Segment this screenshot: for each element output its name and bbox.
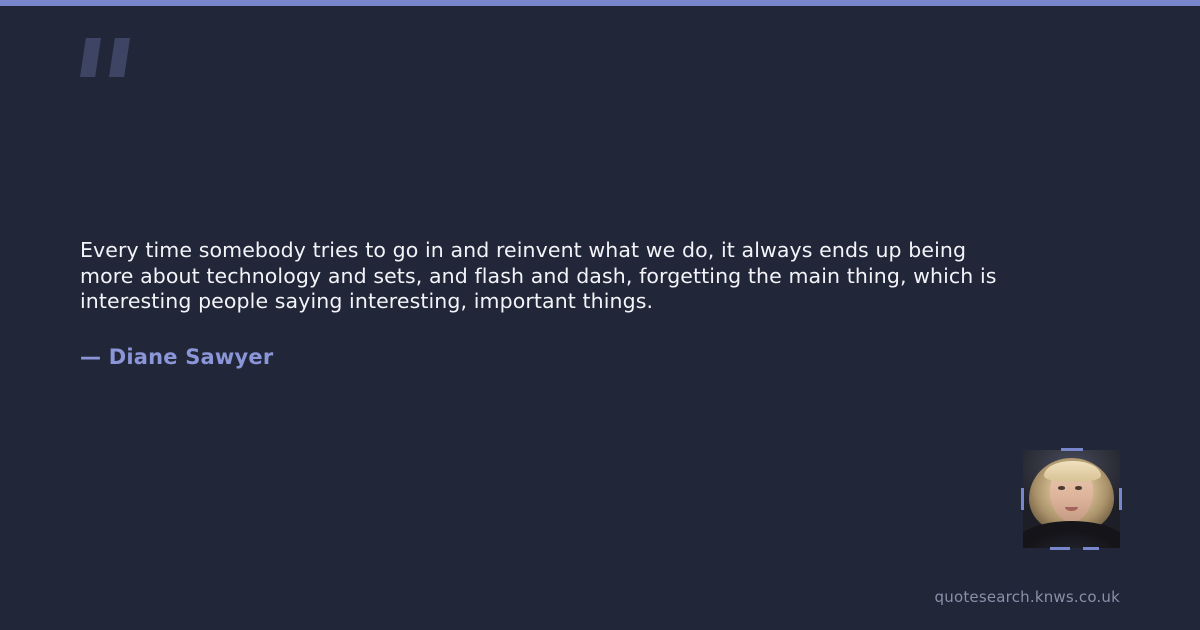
portrait-handle-top[interactable] [1061,448,1083,451]
quote-author: — Diane Sawyer [80,315,1000,369]
author-portrait-image [1023,450,1120,548]
open-quote-wedge-left [80,38,101,77]
quote-text: Every time somebody tries to go in and r… [80,238,1000,315]
open-quote-icon [80,38,132,78]
quote-body: Every time somebody tries to go in and r… [80,238,1000,369]
portrait-eye-right [1075,486,1082,489]
portrait-handle-bottom-left[interactable] [1050,547,1070,550]
portrait-eye-left [1058,486,1065,489]
portrait-fringe [1044,461,1100,483]
site-watermark: quotesearch.knws.co.uk [935,588,1120,606]
portrait-handle-bottom-right[interactable] [1083,547,1099,550]
portrait-handle-right[interactable] [1119,488,1122,510]
portrait-handle-left[interactable] [1021,488,1024,510]
author-portrait[interactable] [1023,450,1120,548]
portrait-shoulders [1023,521,1120,548]
quote-card: Every time somebody tries to go in and r… [0,0,1200,630]
open-quote-wedge-right [109,38,130,77]
top-accent-bar [0,0,1200,6]
